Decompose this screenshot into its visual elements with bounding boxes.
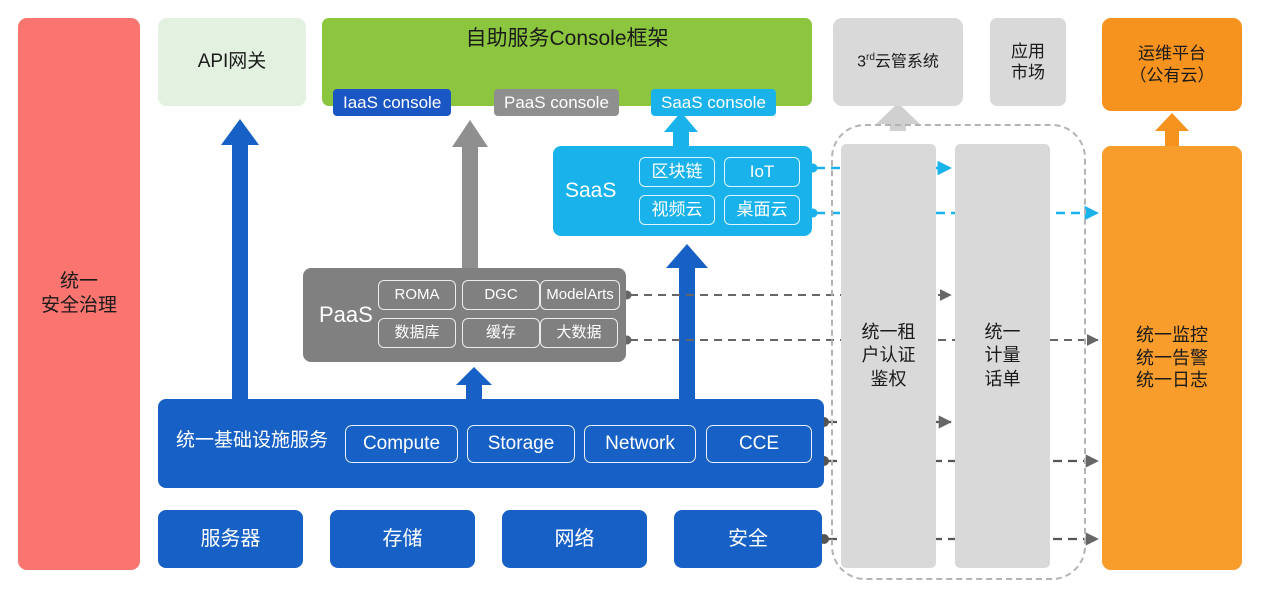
infra-service-network[interactable]: Network: [584, 425, 696, 463]
infra-service-compute[interactable]: Compute: [345, 425, 458, 463]
hardware-box-server[interactable]: 服务器: [158, 510, 303, 568]
chip-saas-console-label: SaaS console: [661, 92, 766, 113]
hardware-box-network-label: 网络: [555, 527, 595, 552]
panel-unified-infrastructure-service[interactable]: 统一基础设施服务 Compute Storage Network CCE: [158, 399, 824, 488]
chip-paas-console-label: PaaS console: [504, 92, 609, 113]
panel-saas-layer[interactable]: SaaS 区块链 IoT 视频云 桌面云: [553, 146, 812, 236]
paas-service-dgc[interactable]: DGC: [462, 280, 540, 310]
paas-service-database[interactable]: 数据库: [378, 318, 456, 348]
paas-service-roma-label: ROMA: [395, 286, 440, 305]
box-third-party-cloud-management[interactable]: 3rd云管系统: [833, 18, 963, 106]
hardware-box-network[interactable]: 网络: [502, 510, 647, 568]
paas-layer-label: PaaS: [319, 301, 373, 329]
saas-service-iot-label: IoT: [750, 161, 775, 182]
chip-saas-console[interactable]: SaaS console: [651, 89, 776, 116]
saas-service-blockchain[interactable]: 区块链: [639, 157, 715, 187]
box-ops-platform-public-cloud[interactable]: 运维平台 （公有云）: [1102, 18, 1242, 111]
arrow-infra-to-paas: [456, 367, 492, 399]
saas-service-video-cloud[interactable]: 视频云: [639, 195, 715, 225]
saas-service-video-cloud-label: 视频云: [652, 199, 703, 220]
box-api-gateway[interactable]: API网关: [158, 18, 306, 106]
paas-service-modelarts[interactable]: ModelArts: [540, 280, 620, 310]
paas-service-dgc-label: DGC: [484, 286, 517, 305]
saas-layer-label: SaaS: [565, 178, 616, 204]
architecture-diagram-canvas: 统一租 户认证 鉴权 统一 计量 话单 统一 安全治理 API网关 自助服务Co…: [0, 0, 1265, 605]
console-framework-title: 自助服务Console框架: [322, 26, 812, 52]
paas-service-modelarts-label: ModelArts: [546, 286, 614, 305]
infrastructure-label: 统一基础设施服务: [176, 429, 328, 453]
chip-iaas-console[interactable]: IaaS console: [333, 89, 451, 116]
ops-platform-label: 运维平台 （公有云）: [1130, 43, 1215, 86]
arrow-ops-monitor-to-ops-platform: [1155, 113, 1189, 146]
paas-service-database-label: 数据库: [394, 324, 439, 343]
saas-service-blockchain-label: 区块链: [652, 161, 703, 182]
third-party-ordinal-suffix: rd: [866, 52, 875, 63]
paas-service-big-data[interactable]: 大数据: [540, 318, 618, 348]
hardware-box-security[interactable]: 安全: [674, 510, 822, 568]
paas-service-cache-label: 缓存: [486, 324, 516, 343]
arrow-paas-to-console-frame: [452, 120, 488, 268]
arrow-saas-to-console-frame: [664, 112, 698, 146]
infra-service-storage[interactable]: Storage: [467, 425, 575, 463]
chip-paas-console[interactable]: PaaS console: [494, 89, 619, 116]
shared-column-unified-auth[interactable]: 统一租 户认证 鉴权: [841, 144, 936, 568]
box-application-market[interactable]: 应用 市场: [990, 18, 1066, 106]
paas-service-big-data-label: 大数据: [556, 324, 601, 343]
third-party-cloud-label: 3rd云管系统: [857, 52, 939, 72]
panel-unified-monitoring-alarm-log[interactable]: 统一监控 统一告警 统一日志: [1102, 146, 1242, 570]
security-panel-label: 统一 安全治理: [41, 270, 117, 318]
app-market-label: 应用 市场: [1011, 41, 1045, 84]
shared-column-metering-label: 统一 计量 话单: [985, 321, 1021, 391]
infra-service-network-label: Network: [605, 432, 675, 456]
saas-service-desktop-cloud[interactable]: 桌面云: [724, 195, 800, 225]
shared-column-unified-metering[interactable]: 统一 计量 话单: [955, 144, 1050, 568]
panel-self-service-console-framework[interactable]: 自助服务Console框架 IaaS console PaaS console …: [322, 18, 812, 106]
infra-service-storage-label: Storage: [488, 432, 555, 456]
hardware-box-server-label: 服务器: [201, 527, 261, 552]
infra-service-compute-label: Compute: [363, 432, 440, 456]
paas-service-roma[interactable]: ROMA: [378, 280, 456, 310]
arrow-infra-to-api-gateway: [221, 119, 259, 399]
saas-service-iot[interactable]: IoT: [724, 157, 800, 187]
panel-paas-layer[interactable]: PaaS ROMA DGC ModelArts 数据库 缓存 大数据: [303, 268, 626, 362]
hardware-box-storage-label: 存储: [383, 527, 423, 552]
chip-iaas-console-label: IaaS console: [343, 92, 441, 113]
hardware-box-storage[interactable]: 存储: [330, 510, 475, 568]
shared-column-auth-label: 统一租 户认证 鉴权: [862, 321, 916, 391]
panel-unified-security-governance[interactable]: 统一 安全治理: [18, 18, 140, 570]
paas-service-cache[interactable]: 缓存: [462, 318, 540, 348]
ops-monitor-label: 统一监控 统一告警 统一日志: [1136, 324, 1208, 392]
infra-service-cce-label: CCE: [739, 432, 779, 456]
hardware-box-security-label: 安全: [728, 527, 768, 552]
arrow-infra-to-saas: [666, 244, 708, 399]
saas-service-desktop-cloud-label: 桌面云: [737, 199, 788, 220]
api-gateway-label: API网关: [198, 50, 267, 74]
infra-service-cce[interactable]: CCE: [706, 425, 812, 463]
